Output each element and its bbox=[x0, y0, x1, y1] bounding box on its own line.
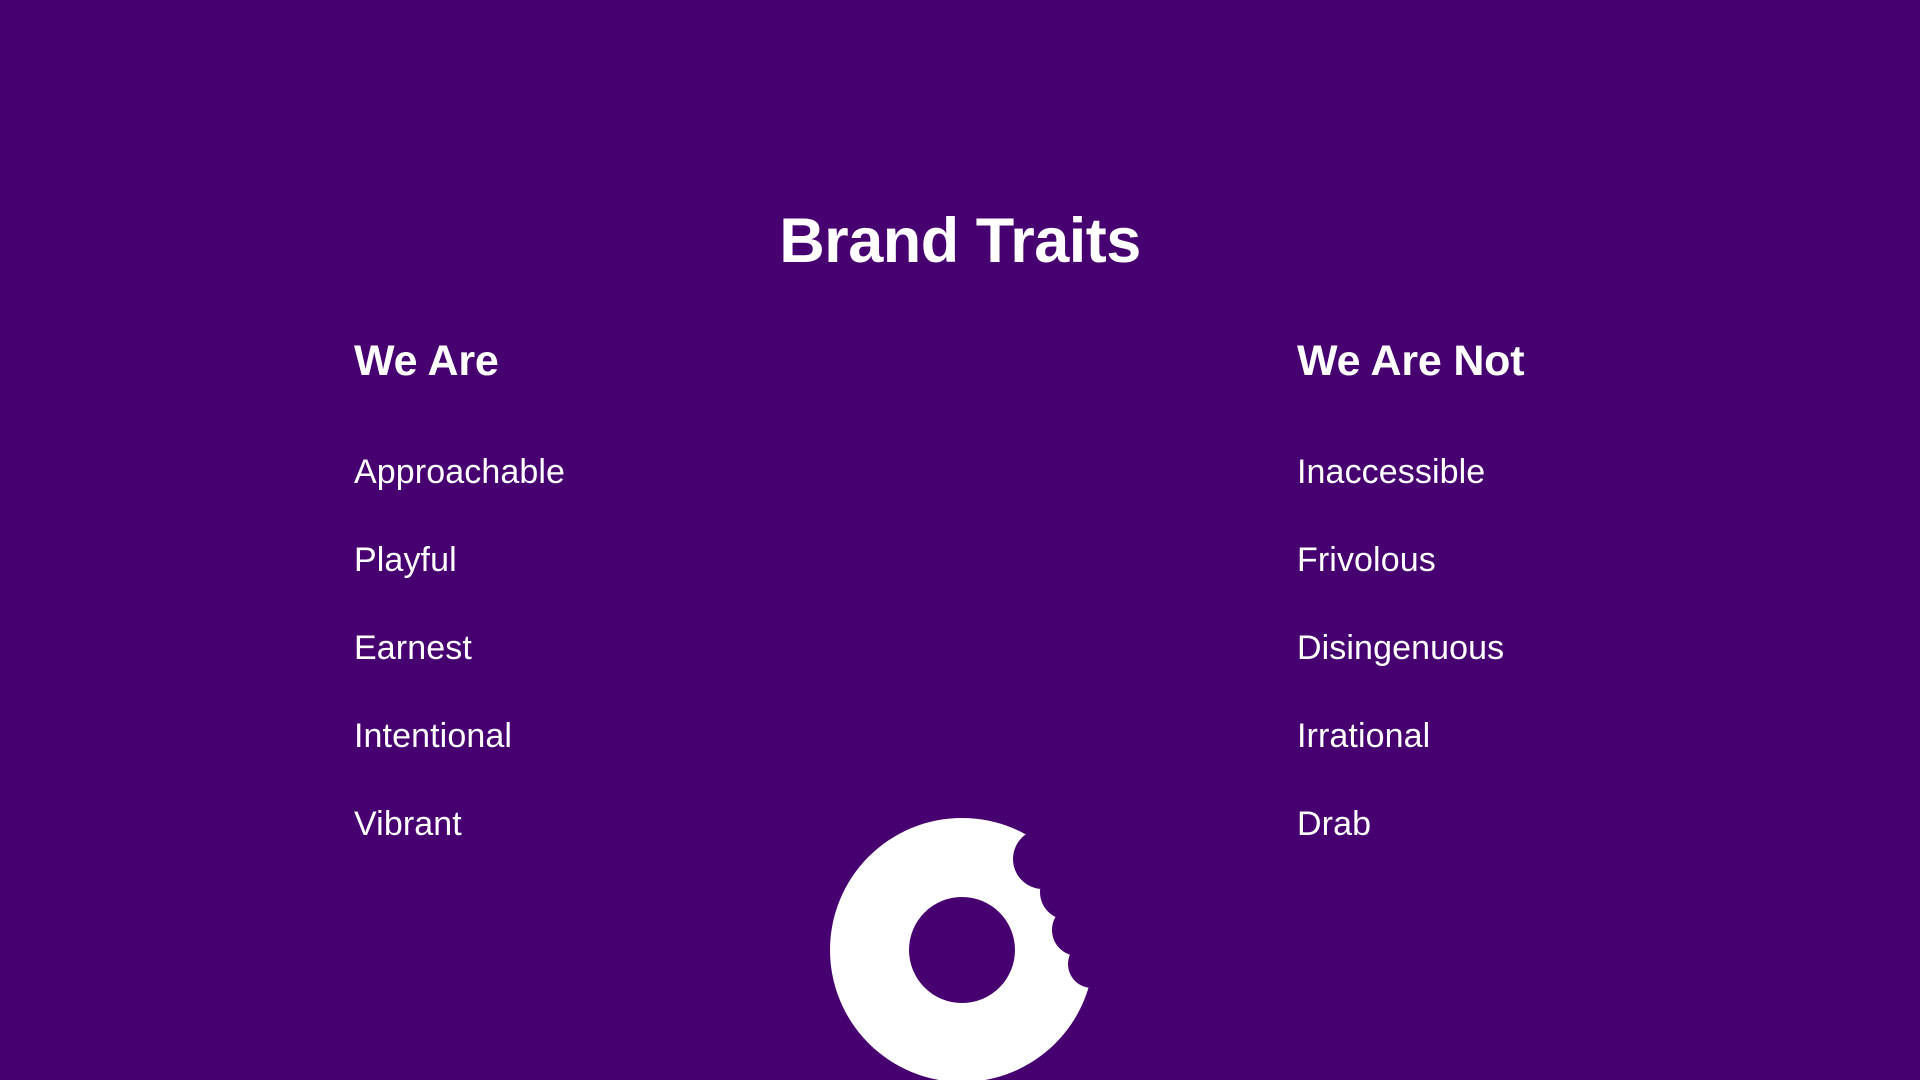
list-item: Irrational bbox=[1297, 719, 1857, 807]
list-item: Intentional bbox=[354, 719, 914, 807]
list-item: Disingenuous bbox=[1297, 631, 1857, 719]
page-title: Brand Traits bbox=[0, 210, 1920, 273]
bitten-donut-logo bbox=[830, 818, 1094, 1080]
list-item: Playful bbox=[354, 543, 914, 631]
list-item: Earnest bbox=[354, 631, 914, 719]
list-item: Approachable bbox=[354, 455, 914, 543]
list-item: Frivolous bbox=[1297, 543, 1857, 631]
list-item: Inaccessible bbox=[1297, 455, 1857, 543]
column-heading-we-are-not: We Are Not bbox=[1297, 340, 1857, 383]
brand-traits-slide: Brand Traits We Are Approachable Playful… bbox=[0, 0, 1920, 1080]
list-item: Drab bbox=[1297, 807, 1857, 895]
column-heading-we-are: We Are bbox=[354, 340, 914, 383]
column-we-are-not: We Are Not Inaccessible Frivolous Dising… bbox=[1297, 340, 1857, 895]
trait-list-we-are-not: Inaccessible Frivolous Disingenuous Irra… bbox=[1297, 455, 1857, 895]
donut-icon bbox=[830, 818, 1094, 1080]
